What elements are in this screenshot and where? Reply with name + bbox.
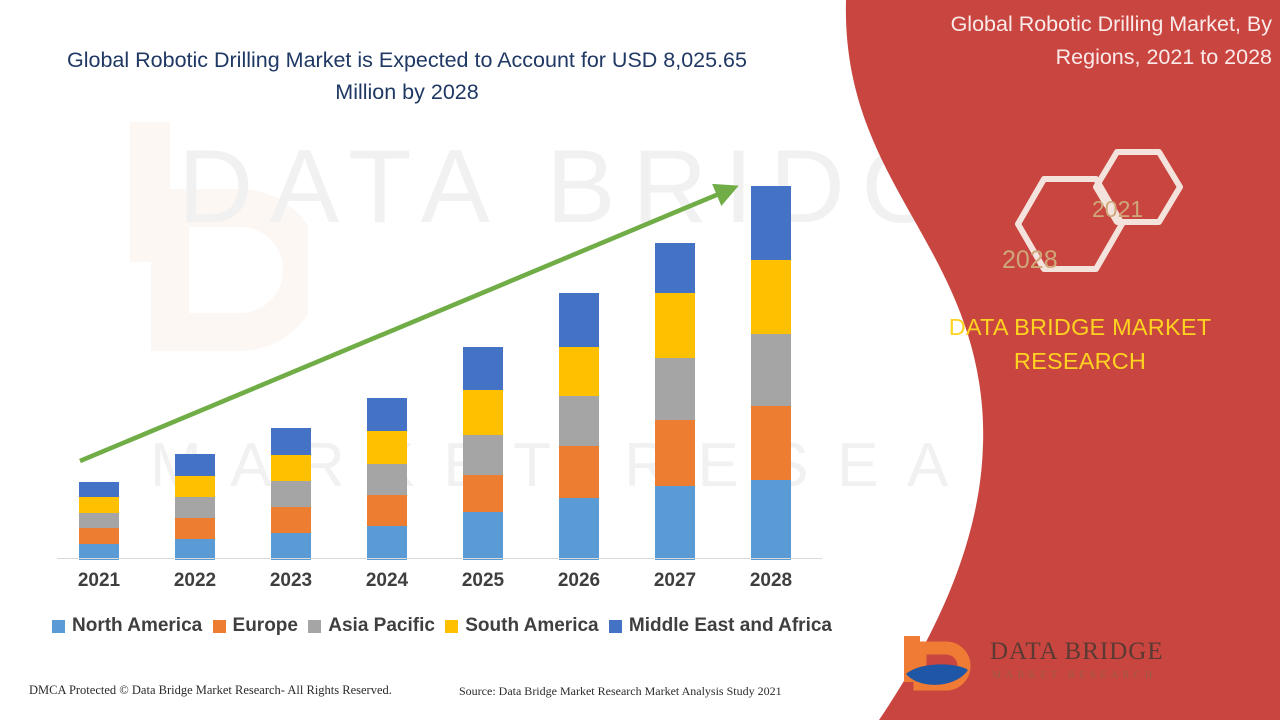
bar-segment xyxy=(751,406,791,480)
x-axis-label-2028: 2028 xyxy=(736,570,806,592)
legend-swatch-icon xyxy=(52,620,65,633)
bar-segment xyxy=(175,454,215,476)
legend-label: North America xyxy=(72,615,202,637)
bar-segment xyxy=(751,186,791,260)
bar-segment xyxy=(559,498,599,560)
x-axis-label-2023: 2023 xyxy=(256,570,326,592)
legend-label: South America xyxy=(465,615,598,637)
bar-segment xyxy=(79,497,119,513)
bar-segment xyxy=(271,533,311,560)
bar-segment xyxy=(655,486,695,560)
bar-segment xyxy=(559,396,599,446)
bar-segment xyxy=(559,446,599,498)
bar-segment xyxy=(271,455,311,481)
bar-segment xyxy=(175,476,215,497)
bar-segment xyxy=(271,481,311,507)
bar-segment xyxy=(367,495,407,526)
stacked-bar[interactable] xyxy=(271,428,311,560)
bar-segment xyxy=(175,539,215,560)
bar-segment xyxy=(655,358,695,420)
logo-subtitle: MARKET RESEARCH xyxy=(992,670,1157,681)
stacked-bar[interactable] xyxy=(655,243,695,560)
dmca-notice: DMCA Protected © Data Bridge Market Rese… xyxy=(29,683,392,698)
bar-segment xyxy=(79,482,119,497)
hexagon-outlines-icon xyxy=(980,140,1190,300)
hexagon-2028-label: 2028 xyxy=(1002,246,1058,275)
logo-wordmark: DATA BRIDGE xyxy=(990,638,1164,666)
legend-label: Europe xyxy=(233,615,298,637)
stacked-bar[interactable] xyxy=(175,454,215,560)
bar-segment xyxy=(175,518,215,539)
legend-item[interactable]: South America xyxy=(445,615,598,637)
x-axis-label-2026: 2026 xyxy=(544,570,614,592)
stacked-bar[interactable] xyxy=(751,186,791,560)
hexagon-2021-label: 2021 xyxy=(1092,196,1143,223)
brand-name: DATA BRIDGE MARKET RESEARCH xyxy=(880,310,1280,378)
bar-segment xyxy=(751,480,791,560)
legend-swatch-icon xyxy=(308,620,321,633)
bar-segment xyxy=(367,398,407,431)
stacked-bar[interactable] xyxy=(79,482,119,560)
panel-title: Global Robotic Drilling Market, By Regio… xyxy=(900,8,1272,74)
x-axis-label-2021: 2021 xyxy=(64,570,134,592)
bar-segment xyxy=(367,526,407,560)
bar-segment xyxy=(271,428,311,455)
x-axis-label-2025: 2025 xyxy=(448,570,518,592)
stacked-bar[interactable] xyxy=(367,398,407,560)
legend-label: Asia Pacific xyxy=(328,615,435,637)
bar-segment xyxy=(751,260,791,334)
bar-chart-plot-area xyxy=(57,160,822,560)
bar-segment xyxy=(367,464,407,495)
bar-segment xyxy=(79,528,119,544)
infographic-canvas: DATA BRIDGE MARKET RESEARCH Global Robot… xyxy=(0,0,1280,720)
bar-segment xyxy=(463,512,503,560)
legend-swatch-icon xyxy=(213,620,226,633)
bar-segment xyxy=(463,390,503,435)
company-logo: DATA BRIDGE MARKET RESEARCH xyxy=(890,630,1150,700)
legend-swatch-icon xyxy=(609,620,622,633)
x-axis-label-2024: 2024 xyxy=(352,570,422,592)
x-axis-label-2022: 2022 xyxy=(160,570,230,592)
bar-segment xyxy=(463,475,503,512)
bar-segment xyxy=(655,243,695,293)
red-panel-content: Global Robotic Drilling Market, By Regio… xyxy=(880,0,1280,720)
bar-segment xyxy=(559,293,599,347)
chart-title: Global Robotic Drilling Market is Expect… xyxy=(62,44,752,108)
stacked-bar[interactable] xyxy=(559,293,599,560)
bar-segment xyxy=(463,347,503,390)
stacked-bar[interactable] xyxy=(463,347,503,560)
legend-swatch-icon xyxy=(445,620,458,633)
x-axis-line xyxy=(57,558,822,559)
bar-segment xyxy=(655,293,695,358)
x-axis-label-2027: 2027 xyxy=(640,570,710,592)
hexagon-group: 2028 2021 xyxy=(980,140,1190,300)
legend-item[interactable]: Asia Pacific xyxy=(308,615,435,637)
bar-segment xyxy=(79,513,119,528)
bar-segment xyxy=(367,431,407,464)
data-bridge-b-icon xyxy=(890,630,990,700)
bar-segment xyxy=(751,334,791,406)
legend-item[interactable]: North America xyxy=(52,615,202,637)
bar-segment xyxy=(559,347,599,396)
legend-item[interactable]: Europe xyxy=(213,615,298,637)
legend-label: Middle East and Africa xyxy=(629,615,832,637)
bar-segment xyxy=(463,435,503,475)
legend-item[interactable]: Middle East and Africa xyxy=(609,615,832,637)
bar-segment xyxy=(271,507,311,533)
source-note: Source: Data Bridge Market Research Mark… xyxy=(459,684,782,699)
bar-segment xyxy=(655,420,695,486)
footer: DMCA Protected © Data Bridge Market Rese… xyxy=(0,683,860,713)
chart-legend: North AmericaEuropeAsia PacificSouth Ame… xyxy=(52,615,832,637)
x-axis-labels: 20212022202320242025202620272028 xyxy=(57,570,822,604)
bar-segment xyxy=(175,497,215,518)
